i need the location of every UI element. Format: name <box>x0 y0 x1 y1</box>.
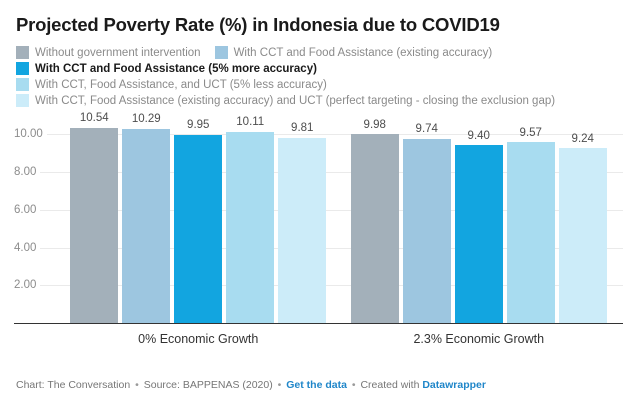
footer-source: Source: BAPPENAS (2020) <box>144 379 273 391</box>
bar-value-label: 9.40 <box>468 131 490 143</box>
legend-label: With CCT, Food Assistance, and UCT (5% l… <box>35 79 327 91</box>
get-the-data-link[interactable]: Get the data <box>286 379 347 391</box>
y-axis-tick-label: 4.00 <box>14 242 40 254</box>
page-title: Projected Poverty Rate (%) in Indonesia … <box>16 14 623 36</box>
bar-value-label: 10.11 <box>236 117 264 129</box>
bar-slot: 10.29 <box>122 113 170 323</box>
chart-legend: Without government intervention With CCT… <box>16 46 623 107</box>
footer-separator: • <box>276 379 284 391</box>
bar[interactable] <box>455 145 503 323</box>
x-axis-label: 0% Economic Growth <box>58 332 339 346</box>
bar[interactable] <box>70 128 118 324</box>
legend-swatch-icon <box>16 94 29 107</box>
bar[interactable] <box>403 139 451 323</box>
legend-item-without-intervention: Without government intervention <box>16 46 201 59</box>
footer-chart-credit: Chart: The Conversation <box>16 379 130 391</box>
legend-label: With CCT and Food Assistance (existing a… <box>234 47 493 59</box>
bar-value-label: 9.95 <box>187 120 209 132</box>
x-axis: 0% Economic Growth2.3% Economic Growth <box>14 332 623 352</box>
bar[interactable] <box>278 138 326 324</box>
legend-swatch-icon <box>215 46 228 59</box>
legend-row-4: With CCT, Food Assistance (existing accu… <box>16 94 623 107</box>
legend-row-2: With CCT and Food Assistance (5% more ac… <box>16 62 623 75</box>
bar-slot: 9.98 <box>351 113 399 323</box>
legend-label: With CCT, Food Assistance (existing accu… <box>35 95 555 107</box>
bar-slot: 9.81 <box>278 113 326 323</box>
legend-item-cct-food-5pct-more: With CCT and Food Assistance (5% more ac… <box>16 62 317 75</box>
bar-value-label: 10.29 <box>132 114 161 126</box>
plot-area: 10.008.006.004.002.00 10.5410.299.9510.1… <box>14 113 623 324</box>
bar-value-label: 10.54 <box>80 113 109 125</box>
footer-created-with: Created with <box>360 379 419 391</box>
bar-slot: 9.57 <box>507 113 555 323</box>
legend-row-1: Without government intervention With CCT… <box>16 46 623 59</box>
bar[interactable] <box>122 129 170 324</box>
legend-swatch-icon <box>16 62 29 75</box>
footer-separator: • <box>133 379 141 391</box>
legend-item-cct-food-uct-perfect: With CCT, Food Assistance (existing accu… <box>16 94 555 107</box>
chart-footer: Chart: The Conversation • Source: BAPPEN… <box>16 379 486 391</box>
bar[interactable] <box>226 132 274 323</box>
legend-row-3: With CCT, Food Assistance, and UCT (5% l… <box>16 78 623 91</box>
y-axis-tick-label: 10.00 <box>14 128 47 140</box>
legend-label: With CCT and Food Assistance (5% more ac… <box>35 63 317 75</box>
bar-value-label: 9.98 <box>364 120 386 132</box>
x-axis-label: 2.3% Economic Growth <box>339 332 620 346</box>
y-axis-tick-label: 8.00 <box>14 166 40 178</box>
bar-slot: 10.54 <box>70 113 118 323</box>
bar-slot: 9.24 <box>559 113 607 323</box>
bar-group: 10.5410.299.9510.119.81 <box>58 113 339 323</box>
bar-value-label: 9.81 <box>291 123 313 135</box>
footer-separator: • <box>350 379 358 391</box>
bar-group: 9.989.749.409.579.24 <box>339 113 620 323</box>
y-axis-tick-label: 2.00 <box>14 279 40 291</box>
bar[interactable] <box>559 148 607 323</box>
legend-swatch-icon <box>16 78 29 91</box>
datawrapper-link[interactable]: Datawrapper <box>422 379 486 391</box>
bar-groups: 10.5410.299.9510.119.819.989.749.409.579… <box>58 113 619 323</box>
bar-value-label: 9.57 <box>520 128 542 140</box>
y-axis-tick-label: 6.00 <box>14 204 40 216</box>
bar-value-label: 9.24 <box>572 134 594 146</box>
bar[interactable] <box>174 135 222 323</box>
chart-container: Projected Poverty Rate (%) in Indonesia … <box>0 0 637 401</box>
bar-slot: 9.40 <box>455 113 503 323</box>
legend-label: Without government intervention <box>35 47 201 59</box>
legend-item-cct-food-existing: With CCT and Food Assistance (existing a… <box>215 46 493 59</box>
bar-slot: 10.11 <box>226 113 274 323</box>
legend-item-cct-food-uct-5pct-less: With CCT, Food Assistance, and UCT (5% l… <box>16 78 327 91</box>
bar-value-label: 9.74 <box>416 124 438 136</box>
bar-slot: 9.74 <box>403 113 451 323</box>
bar[interactable] <box>351 134 399 323</box>
bar[interactable] <box>507 142 555 323</box>
bar-slot: 9.95 <box>174 113 222 323</box>
legend-swatch-icon <box>16 46 29 59</box>
